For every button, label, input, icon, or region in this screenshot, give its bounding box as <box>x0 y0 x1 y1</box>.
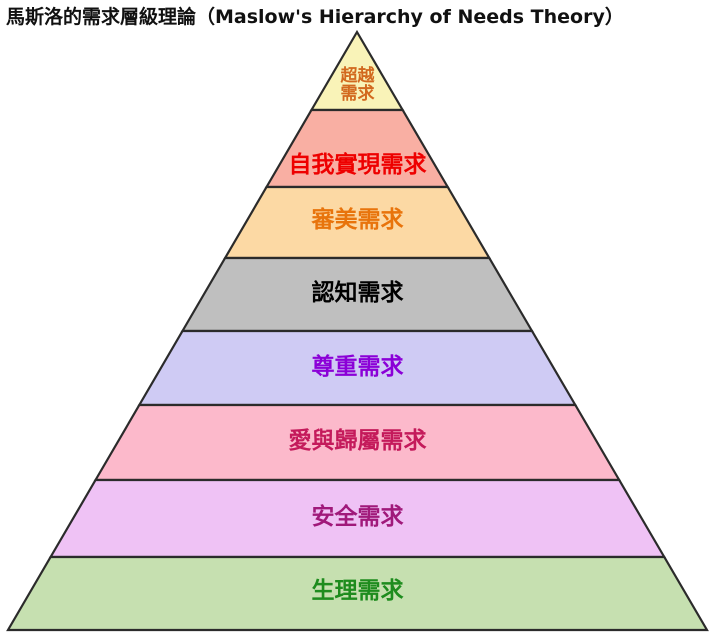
pyramid-level-5[interactable] <box>139 331 575 405</box>
pyramid-level-1[interactable] <box>311 32 402 110</box>
pyramid-level-4[interactable] <box>183 258 533 331</box>
pyramid-level-6[interactable] <box>96 405 620 480</box>
pyramid-level-8[interactable] <box>8 557 707 630</box>
pyramid-level-7[interactable] <box>51 480 665 557</box>
pyramid-level-2[interactable] <box>267 110 448 187</box>
maslow-pyramid-diagram <box>0 0 715 634</box>
pyramid-level-3[interactable] <box>225 187 489 258</box>
